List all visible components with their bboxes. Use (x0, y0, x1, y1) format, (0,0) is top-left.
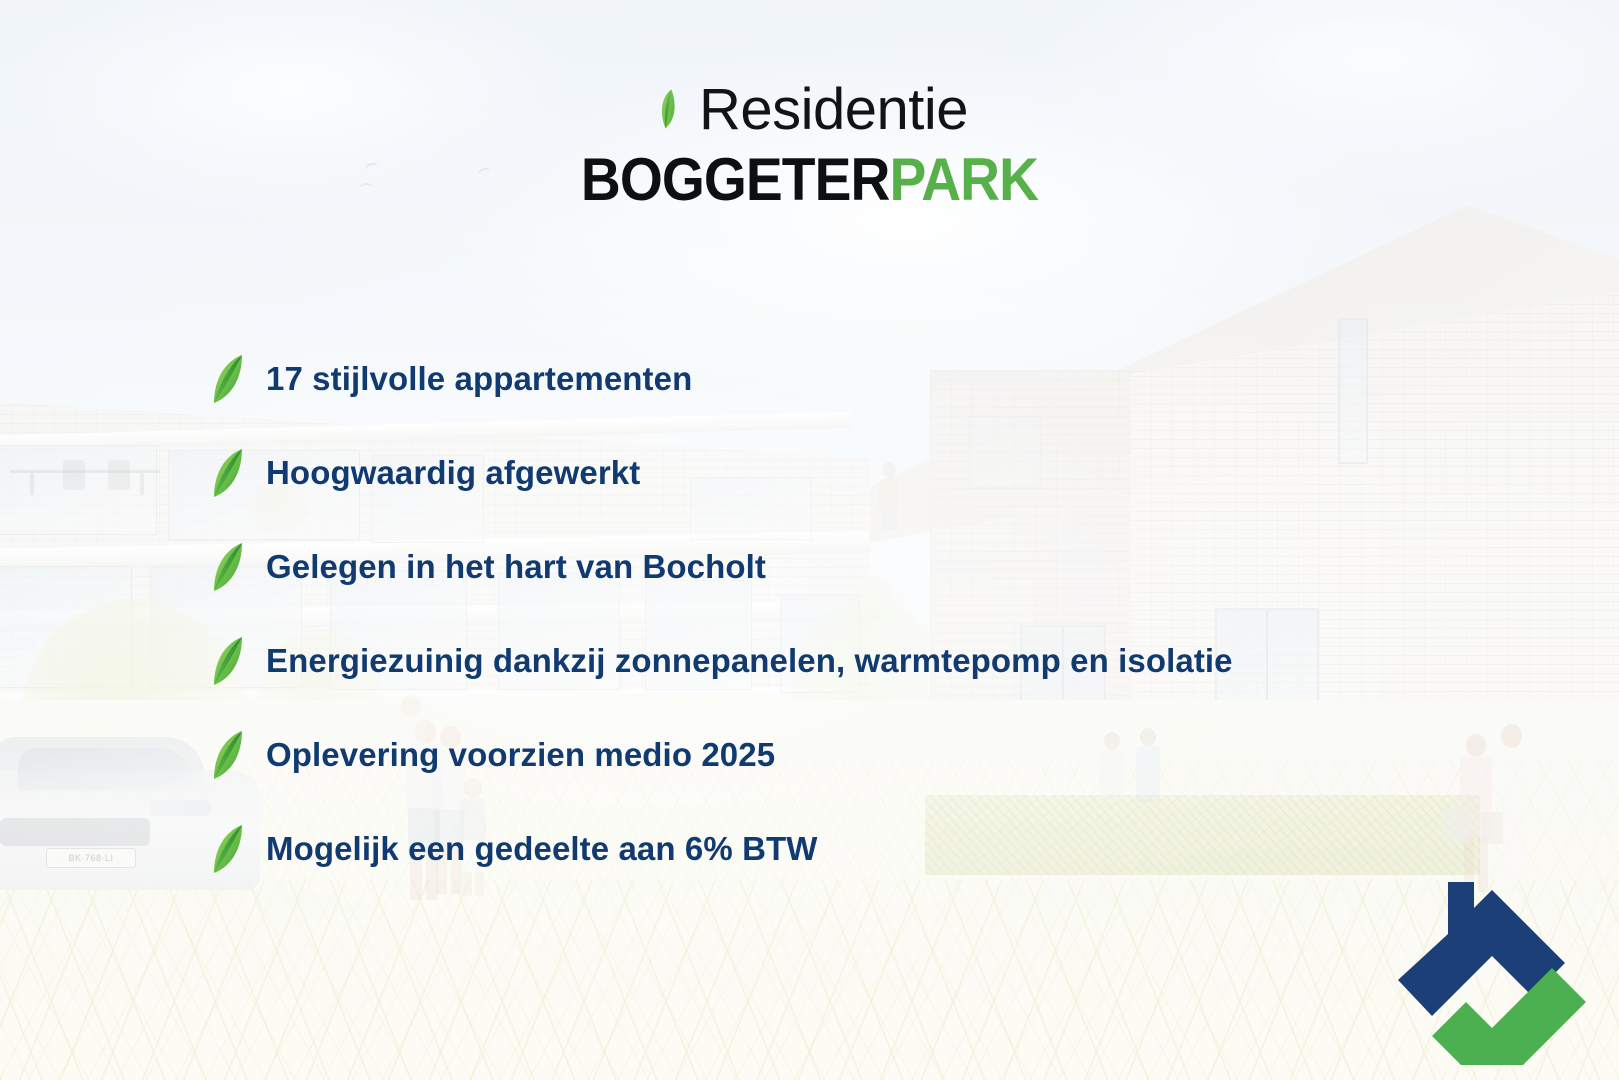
house-roof-checkmark-logo (1392, 870, 1592, 1065)
list-item-label: Energiezuinig dankzij zonnepanelen, warm… (266, 642, 1233, 680)
list-item: Oplevering voorzien medio 2025 (206, 708, 1506, 802)
feature-list: 17 stijlvolle appartementen Hoogwaardig … (206, 332, 1506, 896)
leaf-icon (206, 447, 250, 499)
leaf-icon (206, 823, 250, 875)
list-item-label: Mogelijk een gedeelte aan 6% BTW (266, 830, 818, 868)
list-item: Energiezuinig dankzij zonnepanelen, warm… (206, 614, 1506, 708)
promo-banner: BK·768·LI (0, 0, 1619, 1080)
foreground-content: Residentie BOGGETERPARK (0, 0, 1619, 1080)
brand-script-word: Residentie (699, 81, 968, 139)
leaf-icon (651, 86, 685, 135)
list-item: Hoogwaardig afgewerkt (206, 426, 1506, 520)
list-item: Gelegen in het hart van Bocholt (206, 520, 1506, 614)
brand-name-part2: PARK (889, 146, 1038, 213)
leaf-icon (206, 729, 250, 781)
leaf-icon (206, 635, 250, 687)
list-item-label: Gelegen in het hart van Bocholt (266, 548, 766, 586)
brand-name-part1: BOGGETER (581, 146, 890, 213)
list-item: 17 stijlvolle appartementen (206, 332, 1506, 426)
list-item-label: 17 stijlvolle appartementen (266, 360, 692, 398)
list-item-label: Hoogwaardig afgewerkt (266, 454, 640, 492)
brand-logo: Residentie BOGGETERPARK (0, 78, 1619, 210)
leaf-icon (206, 541, 250, 593)
list-item: Mogelijk een gedeelte aan 6% BTW (206, 802, 1506, 896)
leaf-icon (206, 353, 250, 405)
list-item-label: Oplevering voorzien medio 2025 (266, 736, 775, 774)
